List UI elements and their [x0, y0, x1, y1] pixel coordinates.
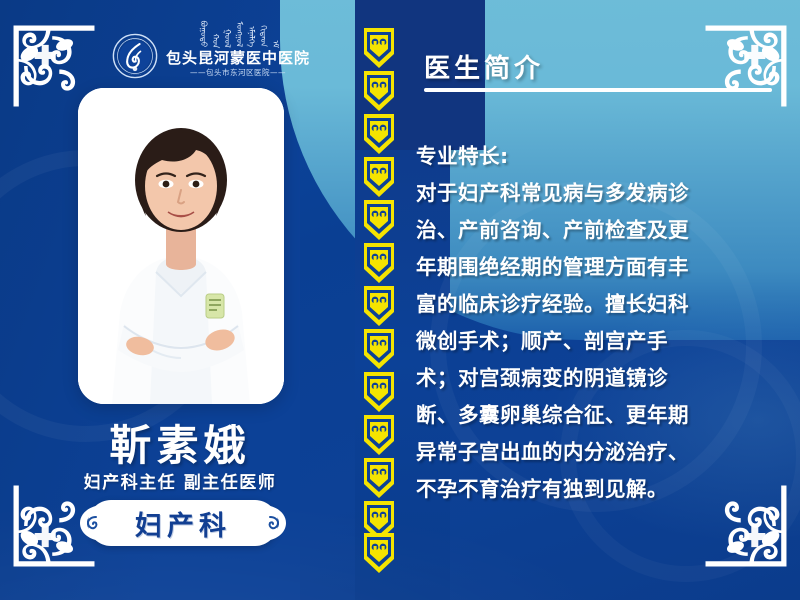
hospital-branding: · · · · · · · · · · · · ᠪᠤᠭᠤᠲᠤᠬᠤᠨᠭᠣᠤᠯᠮᠣᠩ…	[112, 33, 310, 79]
mongolian-scroll-corner-icon	[700, 22, 792, 110]
profile-line: 断、多囊卵巢综合征、更年期	[416, 397, 784, 434]
profile-line: 不孕不育治疗有独到见解。	[416, 471, 784, 508]
doctor-profile-poster: · · · · · · · · · · · · ᠪᠤᠭᠤᠲᠤᠬᠤᠨᠭᠣᠤᠯᠮᠣᠩ…	[0, 0, 800, 600]
scroll-curl-icon	[260, 503, 290, 543]
profile-line: 术；对宫颈病变的阴道镜诊	[416, 360, 784, 397]
mongolian-zigzag-divider-icon	[362, 28, 396, 573]
hospital-name-cn: 包头昆河蒙医中医院	[166, 51, 310, 66]
department-badge: 妇产科	[88, 500, 278, 546]
doctor-name: 靳素娥	[0, 412, 360, 473]
doctor-portrait	[78, 88, 284, 404]
doctor-portrait-illustration	[78, 88, 284, 404]
profile-line: 微创手术；顺产、剖宫产手	[416, 323, 784, 360]
profile-line: 年期围绝经期的管理方面有丰	[416, 249, 784, 286]
doctor-photo-frame	[78, 88, 284, 404]
profile-line: 治、产前咨询、产前检查及更	[416, 212, 784, 249]
hospital-mongolian-name: ᠪᠤᠭᠤᠲᠤᠬᠤᠨᠭᠣᠤᠯᠮᠣᠩᠭᠣᠯᠡᠮᠨᠡᠯᠭᠡᠬᠢᠲᠠᠳᠡᠮ	[198, 36, 279, 49]
profile-label: 专业特长:	[416, 138, 784, 175]
department-label: 妇产科	[135, 504, 231, 543]
svg-text:· · · · · ·: · · · · · ·	[129, 38, 140, 42]
hospital-emblem-icon: · · · · · · · · · · · ·	[112, 33, 158, 79]
doctor-titles: 妇产科主任 副主任医师	[0, 468, 360, 493]
profile-heading: 医生简介	[424, 48, 544, 85]
profile-line: 异常子宫出血的内分泌治疗、	[416, 434, 784, 471]
profile-heading-rule	[424, 88, 772, 92]
scroll-curl-icon	[76, 503, 106, 543]
profile-line: 富的临床诊疗经验。擅长妇科	[416, 286, 784, 323]
profile-body: 专业特长: 对于妇产科常见病与多发病诊 治、产前咨询、产前检查及更 年期围绝经期…	[416, 138, 784, 508]
hospital-subtitle-cn: ——包头市东河区医院——	[190, 69, 286, 77]
svg-text:· · · · · ·: · · · · · ·	[129, 72, 140, 76]
hospital-name-block: ᠪᠤᠭᠤᠲᠤᠬᠤᠨᠭᠣᠤᠯᠮᠣᠩᠭᠣᠯᠡᠮᠨᠡᠯᠭᠡᠬᠢᠲᠠᠳᠡᠮ 包头昆河蒙医…	[166, 36, 310, 77]
profile-line: 对于妇产科常见病与多发病诊	[416, 175, 784, 212]
